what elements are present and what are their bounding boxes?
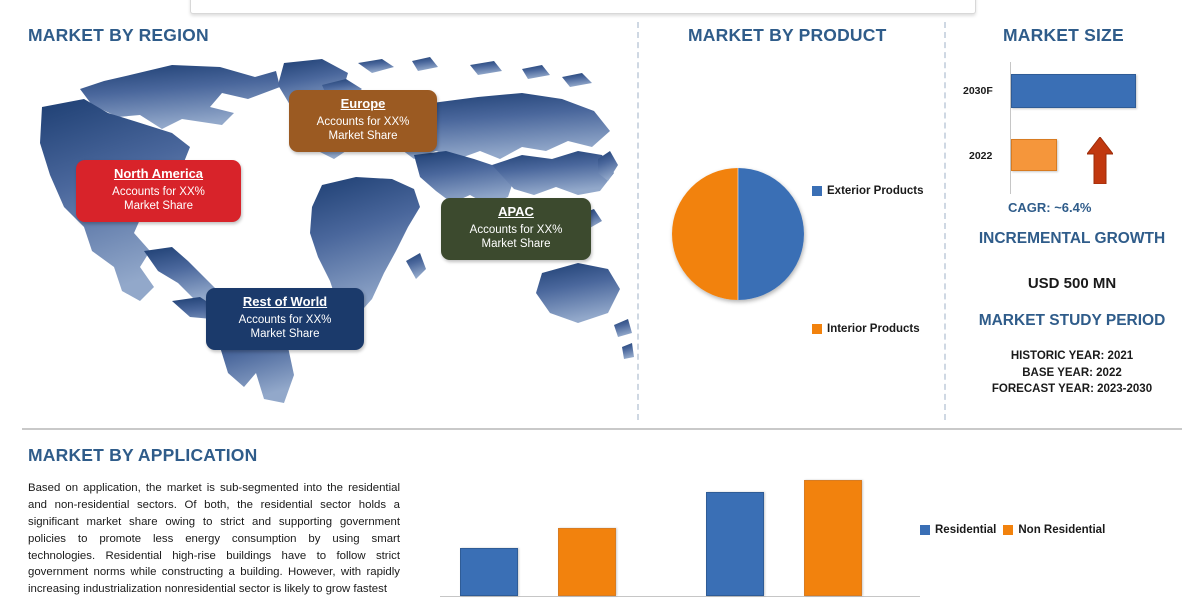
forecast-year: FORECAST YEAR: 2023-2030	[944, 381, 1200, 398]
application-bar-residential-1	[460, 548, 518, 596]
section-title-market-size: MARKET SIZE	[1003, 25, 1124, 46]
section-title-market-by-application: MARKET BY APPLICATION	[28, 445, 257, 466]
application-bar-residential-2	[706, 492, 764, 596]
incremental-growth-value: USD 500 MN	[944, 275, 1200, 292]
legend-item-non-residential[interactable]: Non Residential	[1003, 524, 1105, 536]
legend-label-non-residential: Non Residential	[1018, 524, 1105, 536]
region-callout-north-america-title: North America	[86, 166, 231, 183]
incremental-growth-heading: INCREMENTAL GROWTH	[944, 230, 1200, 248]
region-callout-apac[interactable]: APAC Accounts for XX% Market Share	[441, 198, 591, 260]
region-callout-apac-line1: Accounts for XX%	[451, 223, 581, 238]
growth-arrow-up-icon	[1087, 137, 1113, 184]
region-callout-europe-line2: Market Share	[299, 129, 427, 144]
region-callout-north-america-line2: Market Share	[86, 199, 231, 214]
historic-year: HISTORIC YEAR: 2021	[944, 348, 1200, 365]
vertical-divider-left	[637, 22, 639, 420]
region-callout-europe-line1: Accounts for XX%	[299, 115, 427, 130]
product-pie-chart	[672, 168, 804, 300]
pie-seam	[738, 168, 739, 300]
legend-label-interior: Interior Products	[827, 323, 920, 335]
legend-item-exterior-products[interactable]: Exterior Products	[812, 185, 924, 197]
market-study-period-details: HISTORIC YEAR: 2021 BASE YEAR: 2022 FORE…	[944, 348, 1200, 398]
horizontal-divider	[22, 428, 1182, 430]
section-title-market-by-product: MARKET BY PRODUCT	[688, 25, 887, 46]
region-callout-rest-of-world-line1: Accounts for XX%	[216, 313, 354, 328]
market-size-label-2022: 2022	[969, 150, 992, 162]
market-study-period-heading: MARKET STUDY PERIOD	[944, 312, 1200, 330]
region-callout-rest-of-world-line2: Market Share	[216, 327, 354, 342]
legend-swatch-residential	[920, 525, 930, 535]
legend-label-residential: Residential	[935, 524, 996, 536]
region-callout-apac-line2: Market Share	[451, 237, 581, 252]
application-chart-baseline	[440, 596, 920, 597]
region-callout-rest-of-world[interactable]: Rest of World Accounts for XX% Market Sh…	[206, 288, 364, 350]
market-size-bar-2030f	[1011, 74, 1136, 108]
legend-item-interior-products[interactable]: Interior Products	[812, 323, 920, 335]
application-chart-legend: Residential Non Residential	[920, 524, 1105, 536]
top-banner-panel	[190, 0, 976, 14]
market-size-label-2030f: 2030F	[963, 85, 993, 97]
base-year: BASE YEAR: 2022	[944, 365, 1200, 382]
region-callout-europe[interactable]: Europe Accounts for XX% Market Share	[289, 90, 437, 152]
legend-item-residential[interactable]: Residential	[920, 524, 996, 536]
application-bar-non-residential-1	[558, 528, 616, 596]
legend-swatch-interior	[812, 324, 822, 334]
application-description: Based on application, the market is sub-…	[28, 480, 400, 598]
region-callout-rest-of-world-title: Rest of World	[216, 294, 354, 311]
cagr-value: CAGR: ~6.4%	[1008, 200, 1091, 215]
region-callout-europe-title: Europe	[299, 96, 427, 113]
market-size-bar-2022	[1011, 139, 1057, 171]
region-callout-apac-title: APAC	[451, 204, 581, 221]
section-title-market-by-region: MARKET BY REGION	[28, 25, 209, 46]
region-callout-north-america[interactable]: North America Accounts for XX% Market Sh…	[76, 160, 241, 222]
legend-swatch-non-residential	[1003, 525, 1013, 535]
application-bar-non-residential-2	[804, 480, 862, 596]
region-callout-north-america-line1: Accounts for XX%	[86, 185, 231, 200]
legend-swatch-exterior	[812, 186, 822, 196]
infographic-page: MARKET BY REGION MARKET BY PRODUCT MARKE…	[0, 0, 1200, 600]
legend-label-exterior: Exterior Products	[827, 185, 924, 197]
